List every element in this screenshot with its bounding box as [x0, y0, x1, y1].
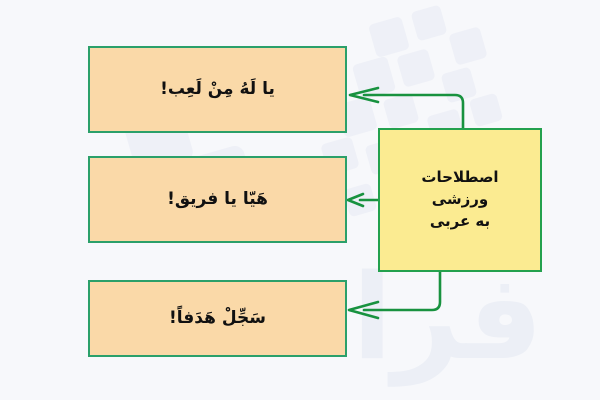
- connector-top: [350, 88, 463, 128]
- watermark-tile: [343, 183, 378, 218]
- watermark-tile: [352, 56, 397, 101]
- term-box-3[interactable]: سَجِّلْ هَدَفاً!: [88, 280, 347, 357]
- topic-box-line-3: به عربی: [421, 211, 498, 233]
- watermark-tile: [396, 48, 436, 88]
- term-box-2[interactable]: هَيّا يا فريق!: [88, 156, 347, 243]
- watermark-tile: [368, 16, 410, 58]
- watermark-tile: [448, 26, 488, 66]
- term-box-1[interactable]: يا لَهُ مِنْ لَعِب!: [88, 46, 347, 133]
- diagram-canvas: فرا يا لَهُ مِنْ لَعِب! هَيّا يا فريق! س…: [0, 0, 600, 400]
- term-box-1-label: يا لَهُ مِنْ لَعِب!: [160, 77, 275, 102]
- connector-top-arrowhead: [350, 88, 378, 102]
- watermark-text: فرا: [352, 258, 543, 376]
- term-box-3-label: سَجِّلْ هَدَفاً!: [169, 306, 266, 331]
- connector-bottom-line: [364, 272, 440, 310]
- watermark-tile: [410, 4, 447, 41]
- connector-bottom-arrowhead: [349, 302, 378, 318]
- term-box-2-label: هَيّا يا فريق!: [167, 187, 268, 212]
- topic-box-line-2: ورزشی: [421, 189, 498, 211]
- connector-middle: [348, 194, 378, 206]
- connector-middle-arrowhead: [348, 194, 363, 206]
- topic-box-line-1: اصطلاحات: [421, 167, 498, 189]
- connector-top-line: [364, 95, 463, 128]
- watermark-tile: [440, 66, 477, 103]
- topic-box[interactable]: اصطلاحات ورزشی به عربی: [378, 128, 542, 272]
- topic-box-label: اصطلاحات ورزشی به عربی: [421, 167, 498, 232]
- connector-bottom: [349, 272, 440, 318]
- watermark-tile: [382, 92, 419, 129]
- watermark-tile: [469, 93, 504, 128]
